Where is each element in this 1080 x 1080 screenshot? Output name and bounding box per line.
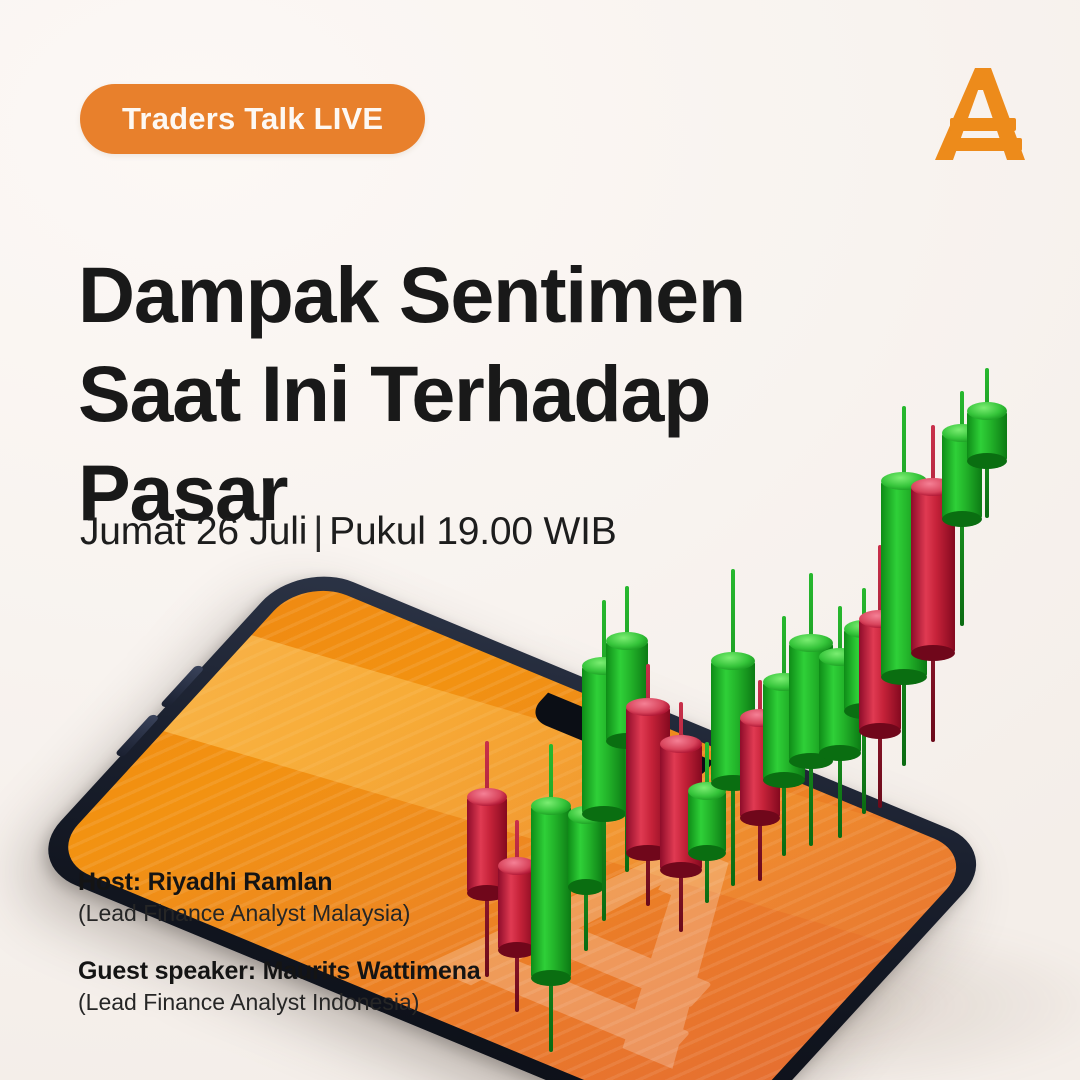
host-role: (Lead Finance Analyst Malaysia)	[78, 898, 548, 929]
candle-cap	[967, 402, 1007, 420]
candle-base	[967, 453, 1007, 469]
candle-cap	[531, 797, 571, 815]
candle-cap	[606, 632, 648, 650]
host-name: Host: Riyadhi Ramlan	[78, 866, 548, 898]
candle-body	[967, 411, 1007, 461]
promo-poster: Traders Talk LIVE Dampak Sentimen Saat I…	[0, 0, 1080, 1080]
candle-base	[911, 645, 955, 661]
candle-cap	[711, 652, 755, 670]
guest-name: Guest speaker: Maurits Wattimena	[78, 955, 548, 987]
speaker-credits: Host: Riyadhi Ramlan (Lead Finance Analy…	[78, 866, 548, 1044]
credit-guest: Guest speaker: Maurits Wattimena (Lead F…	[78, 955, 548, 1018]
candle-20-up	[967, 368, 1007, 518]
credit-host: Host: Riyadhi Ramlan (Lead Finance Analy…	[78, 866, 548, 929]
candle-cap	[467, 788, 507, 806]
guest-role: (Lead Finance Analyst Indonesia)	[78, 987, 548, 1018]
